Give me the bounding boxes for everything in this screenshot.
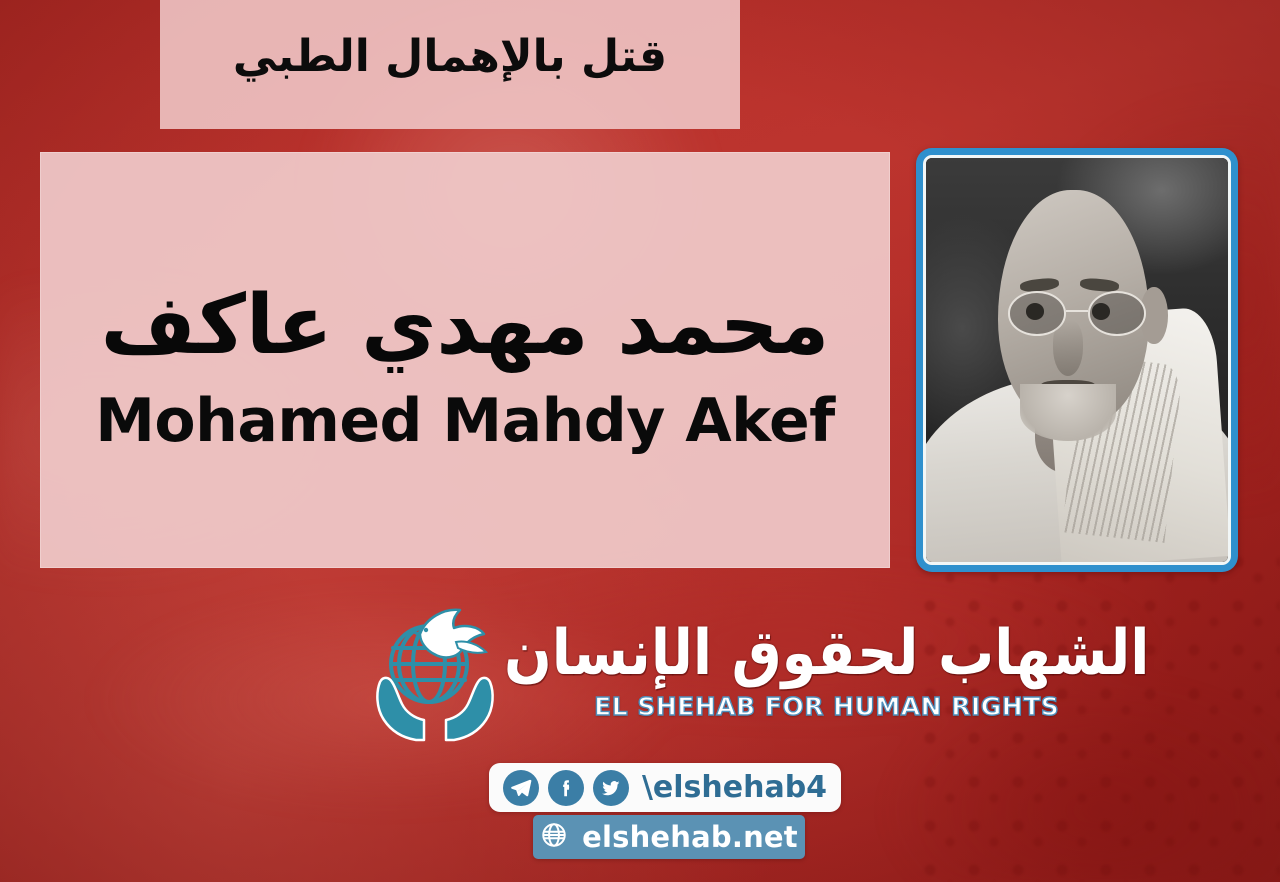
poster-canvas: قتل بالإهمال الطبي محمد مهدي عاكف Mohame… bbox=[0, 0, 1280, 882]
facebook-icon[interactable] bbox=[548, 770, 584, 806]
subject-name-card: محمد مهدي عاكف Mohamed Mahdy Akef bbox=[40, 152, 890, 568]
organization-name-english: EL SHEHAB FOR HUMAN RIGHTS bbox=[594, 692, 1059, 721]
organization-name-arabic: الشهاب لحقوق الإنسان bbox=[504, 622, 1149, 685]
website-bar[interactable]: elshehab.net bbox=[533, 815, 805, 859]
organization-logo-block: الشهاب لحقوق الإنسان EL SHEHAB FOR HUMAN… bbox=[374, 592, 904, 750]
globe-icon bbox=[540, 821, 568, 853]
photo-nose bbox=[1053, 320, 1083, 377]
portrait-inner-border bbox=[923, 155, 1231, 565]
headline-banner: قتل بالإهمال الطبي bbox=[160, 0, 740, 129]
photo-glasses-bridge bbox=[1066, 310, 1088, 312]
globe-dove-hands-icon bbox=[374, 596, 496, 746]
photo-beard bbox=[1020, 384, 1117, 441]
headline-text: قتل بالإهمال الطبي bbox=[233, 32, 667, 83]
subject-name-arabic: محمد مهدي عاكف bbox=[101, 281, 830, 371]
organization-text: الشهاب لحقوق الإنسان EL SHEHAB FOR HUMAN… bbox=[504, 622, 1149, 721]
social-handle-bar[interactable]: \elshehab4 bbox=[489, 763, 841, 812]
subject-name-latin: Mohamed Mahdy Akef bbox=[95, 390, 835, 453]
website-url-text: elshehab.net bbox=[582, 820, 798, 854]
photo-lens-right bbox=[1088, 291, 1146, 335]
twitter-icon[interactable] bbox=[593, 770, 629, 806]
social-handle-text: \elshehab4 bbox=[642, 770, 827, 805]
subject-photo bbox=[926, 158, 1228, 562]
telegram-icon[interactable] bbox=[503, 770, 539, 806]
portrait-frame bbox=[916, 148, 1238, 572]
